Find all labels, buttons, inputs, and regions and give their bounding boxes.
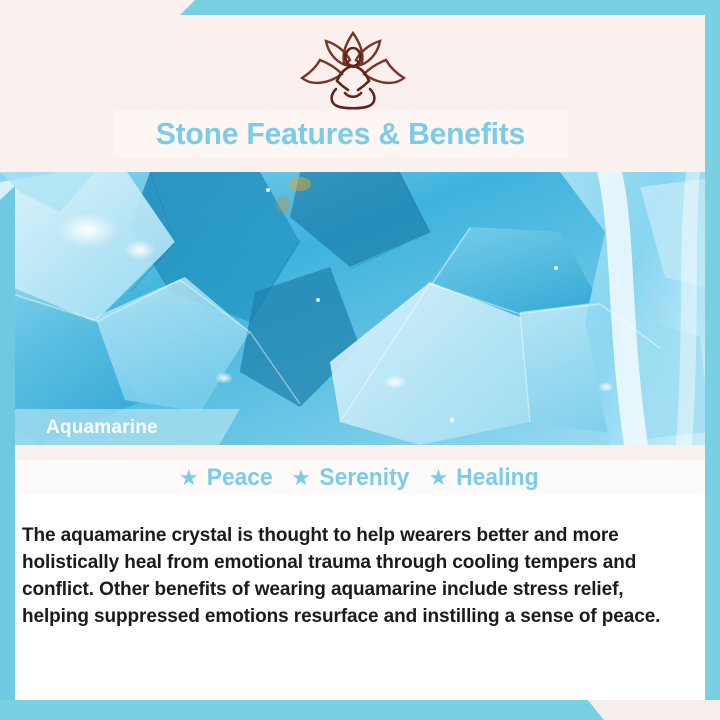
lotus-meditation-icon xyxy=(290,27,416,120)
stone-name-badge: Aquamarine xyxy=(0,409,240,445)
benefit-item: ★ Peace xyxy=(179,464,274,492)
benefit-item: ★ Healing xyxy=(429,464,541,492)
description-panel: The aquamarine crystal is thought to hel… xyxy=(15,495,705,700)
star-icon: ★ xyxy=(429,467,449,489)
benefit-label-peace: Peace xyxy=(206,464,272,492)
aquamarine-crystal-photo: Aquamarine xyxy=(0,172,720,445)
benefit-label-serenity: Serenity xyxy=(319,464,409,492)
benefit-item: ★ Serenity xyxy=(291,464,411,492)
stone-name: Aquamarine xyxy=(46,417,158,439)
star-icon: ★ xyxy=(291,467,311,489)
benefits-row: ★ Peace ★ Serenity ★ Healing xyxy=(15,460,705,494)
benefit-label-healing: Healing xyxy=(456,464,538,492)
description-text: The aquamarine crystal is thought to hel… xyxy=(22,522,681,630)
page-title-band: Stone Features & Benefits xyxy=(113,111,568,157)
left-accent-bar xyxy=(0,186,15,720)
star-icon: ★ xyxy=(179,467,199,489)
stone-features-poster: BUDDHA STONES Stone Features & Benefits xyxy=(0,0,720,720)
right-accent-bar xyxy=(705,0,720,706)
page-title: Stone Features & Benefits xyxy=(156,116,525,152)
